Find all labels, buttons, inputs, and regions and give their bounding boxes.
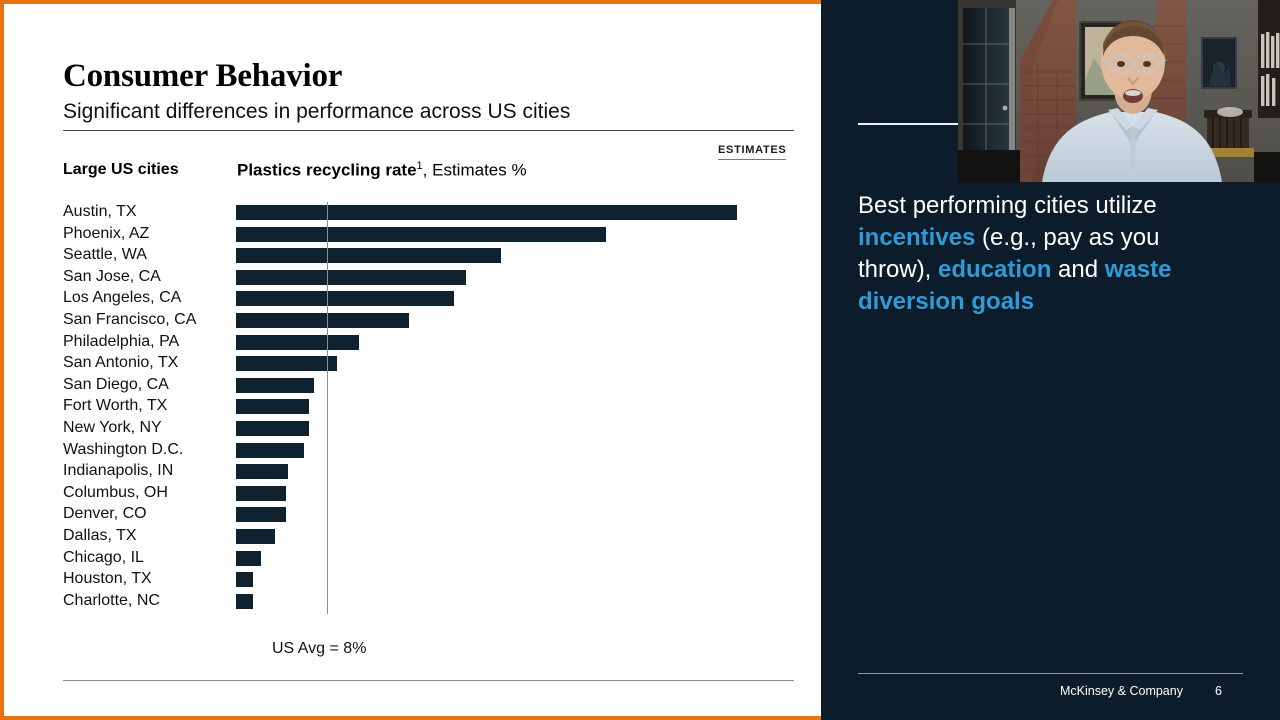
city-label: Fort Worth, TX bbox=[63, 396, 167, 415]
callout-highlight: incentives bbox=[858, 224, 975, 251]
city-label: New York, NY bbox=[63, 418, 162, 437]
city-label: Chicago, IL bbox=[63, 548, 144, 567]
city-bar bbox=[236, 594, 253, 609]
city-label: San Antonio, TX bbox=[63, 353, 178, 372]
panel-footer-divider bbox=[858, 673, 1243, 674]
chart-row: Washington D.C. bbox=[4, 440, 821, 462]
chart-row: San Jose, CA bbox=[4, 267, 821, 289]
city-bar bbox=[236, 572, 253, 587]
city-bar bbox=[236, 443, 304, 458]
slide-title: Consumer Behavior bbox=[63, 58, 342, 95]
chart-row: San Antonio, TX bbox=[4, 353, 821, 375]
estimates-badge: ESTIMATES bbox=[718, 144, 786, 160]
metric-name: Plastics recycling rate bbox=[237, 161, 417, 180]
accent-rule bbox=[858, 123, 958, 125]
city-label: Phoenix, AZ bbox=[63, 224, 149, 243]
city-bar bbox=[236, 399, 309, 414]
chart-row: Columbus, OH bbox=[4, 483, 821, 505]
chart-row: San Francisco, CA bbox=[4, 310, 821, 332]
chart-row: Dallas, TX bbox=[4, 526, 821, 548]
slide-subtitle: Significant differences in performance a… bbox=[63, 100, 570, 124]
presenter-video-feed[interactable] bbox=[958, 0, 1280, 182]
chart-row: Seattle, WA bbox=[4, 245, 821, 267]
city-label: Seattle, WA bbox=[63, 245, 147, 264]
us-average-label: US Avg = 8% bbox=[272, 640, 366, 658]
city-bar bbox=[236, 529, 275, 544]
city-label: Denver, CO bbox=[63, 504, 147, 523]
city-label: Philadelphia, PA bbox=[63, 332, 179, 351]
slide-canvas: Consumer Behavior Significant difference… bbox=[0, 0, 821, 720]
slide-footer-divider bbox=[63, 680, 794, 681]
us-average-reference-line bbox=[327, 202, 328, 614]
city-bar bbox=[236, 421, 309, 436]
presentation-screen: Consumer Behavior Significant difference… bbox=[0, 0, 1280, 720]
video-frame bbox=[958, 0, 1280, 182]
city-bar bbox=[236, 270, 466, 285]
chart-row: Austin, TX bbox=[4, 202, 821, 224]
chart-row: Los Angeles, CA bbox=[4, 288, 821, 310]
city-label: Los Angeles, CA bbox=[63, 288, 181, 307]
chart-row: Denver, CO bbox=[4, 504, 821, 526]
city-label: San Francisco, CA bbox=[63, 310, 196, 329]
metric-unit: , Estimates % bbox=[423, 161, 527, 180]
city-label: Houston, TX bbox=[63, 569, 152, 588]
city-bar bbox=[236, 507, 286, 522]
city-label: Austin, TX bbox=[63, 202, 137, 221]
callout-text: Best performing cities utilize bbox=[858, 192, 1157, 219]
city-label: Dallas, TX bbox=[63, 526, 137, 545]
city-bar bbox=[236, 551, 261, 566]
city-label: Charlotte, NC bbox=[63, 591, 160, 610]
title-divider bbox=[63, 130, 794, 131]
page-number: 6 bbox=[1215, 684, 1222, 698]
city-bar bbox=[236, 378, 314, 393]
city-label: Columbus, OH bbox=[63, 483, 168, 502]
chart-row: Charlotte, NC bbox=[4, 591, 821, 613]
chart-row: Phoenix, AZ bbox=[4, 224, 821, 246]
chart-row: New York, NY bbox=[4, 418, 821, 440]
callout-highlight: education bbox=[938, 256, 1051, 283]
callout-text: and bbox=[1051, 256, 1104, 283]
column-header-metric: Plastics recycling rate1, Estimates % bbox=[237, 160, 527, 181]
city-label: Washington D.C. bbox=[63, 440, 183, 459]
city-bar bbox=[236, 356, 337, 371]
column-header-cities: Large US cities bbox=[63, 161, 179, 179]
city-bar bbox=[236, 205, 737, 220]
city-bar bbox=[236, 335, 359, 350]
insight-callout-text: Best performing cities utilize incentive… bbox=[858, 190, 1230, 318]
city-label: Indianapolis, IN bbox=[63, 461, 173, 480]
brand-label: McKinsey & Company bbox=[1060, 684, 1183, 698]
city-label: San Diego, CA bbox=[63, 375, 169, 394]
chart-row: Chicago, IL bbox=[4, 548, 821, 570]
chart-row: Philadelphia, PA bbox=[4, 332, 821, 354]
chart-row: Indianapolis, IN bbox=[4, 461, 821, 483]
chart-row: San Diego, CA bbox=[4, 375, 821, 397]
city-bar bbox=[236, 313, 409, 328]
city-bar bbox=[236, 464, 288, 479]
chart-row: Houston, TX bbox=[4, 569, 821, 591]
bar-chart: Austin, TXPhoenix, AZSeattle, WASan Jose… bbox=[4, 202, 821, 622]
city-bar bbox=[236, 248, 501, 263]
slide-content: Consumer Behavior Significant difference… bbox=[4, 4, 821, 716]
city-label: San Jose, CA bbox=[63, 267, 161, 286]
city-bar bbox=[236, 227, 606, 242]
chart-row: Fort Worth, TX bbox=[4, 396, 821, 418]
city-bar bbox=[236, 486, 286, 501]
city-bar bbox=[236, 291, 454, 306]
